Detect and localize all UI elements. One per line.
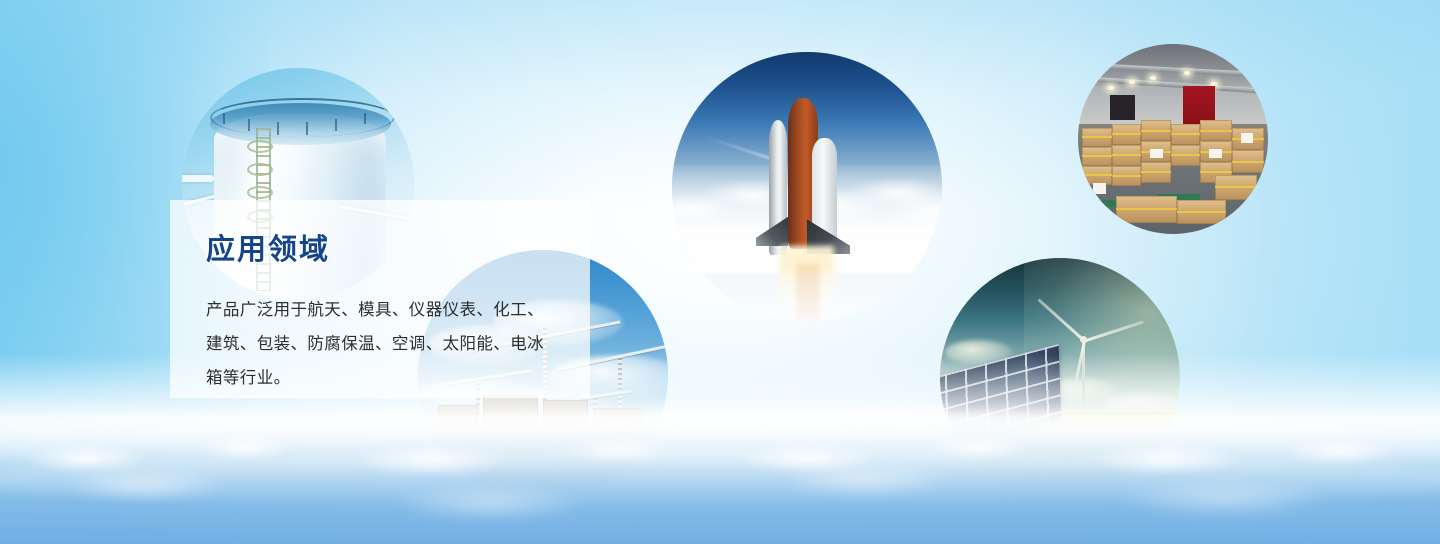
page-title: 应用领域 [206,226,558,268]
warehouse-box [1200,120,1232,141]
warehouse-box [1215,175,1257,200]
application-fields-banner: 应用领域 产品广泛用于航天、模具、仪器仪表、化工、建筑、包装、防腐保温、空调、太… [0,0,1440,544]
warehouse-box-label [1241,133,1252,143]
image-warehouse-cartons [1078,44,1268,234]
tank-rail-post [248,119,250,132]
tank-ladder-cage-ring [247,163,273,176]
image-space-shuttle-launch [672,52,942,322]
tank-pipe-stub [182,175,214,182]
page-description: 产品广泛用于航天、模具、仪器仪表、化工、建筑、包装、防腐保温、空调、太阳能、电冰… [206,294,558,395]
warehouse-box [1171,124,1200,145]
warehouse-box [1112,124,1141,145]
warehouse-box [1116,196,1177,223]
warehouse-box [1232,150,1264,173]
warehouse-box [1141,162,1171,183]
tank-handrail [210,98,395,137]
tank-ladder-cage-ring [247,140,273,153]
warehouse-box [1171,145,1200,166]
warehouse-box [1177,200,1226,225]
warehouse-box [1082,147,1112,166]
cloud-sea-lower-texture [0,452,1440,544]
tank-rail-post [306,122,308,135]
shuttle-exhaust-plume [780,246,834,322]
warehouse-box [1141,120,1171,141]
warehouse-box [1112,145,1141,166]
warehouse-dark-doorway [1110,95,1135,120]
tank-rail-post [335,119,337,132]
warehouse-box-label [1093,183,1106,194]
tank-rail-post [277,122,279,135]
warehouse-ceiling-light [1184,71,1190,75]
warehouse-box [1112,166,1141,187]
wind-turbine-hub [1080,336,1087,343]
tank-rail-post [364,113,366,124]
warehouse-box-label [1209,149,1222,159]
warehouse-box-label [1150,149,1163,159]
application-fields-text-panel: 应用领域 产品广泛用于航天、模具、仪器仪表、化工、建筑、包装、防腐保温、空调、太… [170,200,590,398]
warehouse-red-panel [1183,86,1215,124]
tank-rail-post [223,113,225,124]
warehouse-box [1082,128,1112,147]
